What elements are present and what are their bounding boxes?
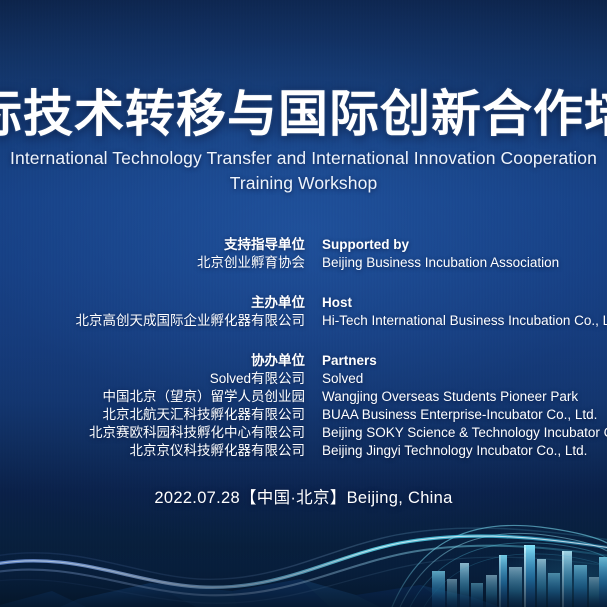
section-label-chinese: 协办单位 bbox=[251, 352, 305, 370]
organization-row: 北京创业孵育协会 Beijing Business Incubation Ass… bbox=[0, 254, 607, 272]
organization-name-chinese: 北京高创天成国际企业孵化器有限公司 bbox=[76, 312, 306, 330]
section-supported-by: 支持指导单位 Supported by 北京创业孵育协会 Beijing Bus… bbox=[0, 236, 607, 272]
section-label-chinese: 支持指导单位 bbox=[224, 236, 305, 254]
organization-name-english: Beijing Jingyi Technology Incubator Co.,… bbox=[322, 442, 587, 460]
organization-row: Solved有限公司 Solved bbox=[0, 370, 607, 388]
section-label-chinese: 主办单位 bbox=[251, 294, 305, 312]
organization-row: 北京京仪科技孵化器有限公司 Beijing Jingyi Technology … bbox=[0, 442, 607, 460]
organization-name-chinese: Solved有限公司 bbox=[210, 370, 305, 388]
section-label-english: Host bbox=[322, 294, 352, 312]
organization-name-chinese: 北京京仪科技孵化器有限公司 bbox=[130, 442, 306, 460]
organization-row: 北京高创天成国际企业孵化器有限公司 Hi-Tech International … bbox=[0, 312, 607, 330]
subtitle-line-2: Training Workshop bbox=[0, 171, 607, 196]
organizations-block: 支持指导单位 Supported by 北京创业孵育协会 Beijing Bus… bbox=[0, 236, 607, 460]
organization-name-english: Beijing SOKY Science & Technology Incuba… bbox=[322, 424, 607, 442]
organization-row: 中国北京（望京）留学人员创业园 Wangjing Overseas Studen… bbox=[0, 388, 607, 406]
conference-poster: 际技术转移与国际创新合作培 International Technology T… bbox=[0, 0, 607, 607]
section-partners: 协办单位 Partners Solved有限公司 Solved 中国北京（望京）… bbox=[0, 352, 607, 460]
organization-row: 北京赛欧科园科技孵化中心有限公司 Beijing SOKY Science & … bbox=[0, 424, 607, 442]
section-label-english: Partners bbox=[322, 352, 377, 370]
page-subtitle-english: International Technology Transfer and In… bbox=[0, 146, 607, 196]
section-header-row: 支持指导单位 Supported by bbox=[0, 236, 607, 254]
organization-name-chinese: 中国北京（望京）留学人员创业园 bbox=[103, 388, 306, 406]
poster-content: 际技术转移与国际创新合作培 International Technology T… bbox=[0, 0, 607, 607]
section-label-english: Supported by bbox=[322, 236, 409, 254]
subtitle-line-1: International Technology Transfer and In… bbox=[0, 146, 607, 171]
organization-name-chinese: 北京赛欧科园科技孵化中心有限公司 bbox=[89, 424, 305, 442]
organization-row: 北京北航天汇科技孵化器有限公司 BUAA Business Enterprise… bbox=[0, 406, 607, 424]
organization-name-english: Beijing Business Incubation Association bbox=[322, 254, 559, 272]
organization-name-chinese: 北京创业孵育协会 bbox=[197, 254, 305, 272]
section-host: 主办单位 Host 北京高创天成国际企业孵化器有限公司 Hi-Tech Inte… bbox=[0, 294, 607, 330]
section-header-row: 主办单位 Host bbox=[0, 294, 607, 312]
organization-name-english: Wangjing Overseas Students Pioneer Park bbox=[322, 388, 578, 406]
organization-name-english: Hi-Tech International Business Incubatio… bbox=[322, 312, 607, 330]
organization-name-english: Solved bbox=[322, 370, 363, 388]
section-header-row: 协办单位 Partners bbox=[0, 352, 607, 370]
page-title-chinese: 际技术转移与国际创新合作培 bbox=[0, 74, 607, 146]
organization-name-chinese: 北京北航天汇科技孵化器有限公司 bbox=[103, 406, 306, 424]
event-date-location: 2022.07.28【中国·北京】Beijing, China bbox=[0, 484, 607, 508]
organization-name-english: BUAA Business Enterprise-Incubator Co., … bbox=[322, 406, 597, 424]
